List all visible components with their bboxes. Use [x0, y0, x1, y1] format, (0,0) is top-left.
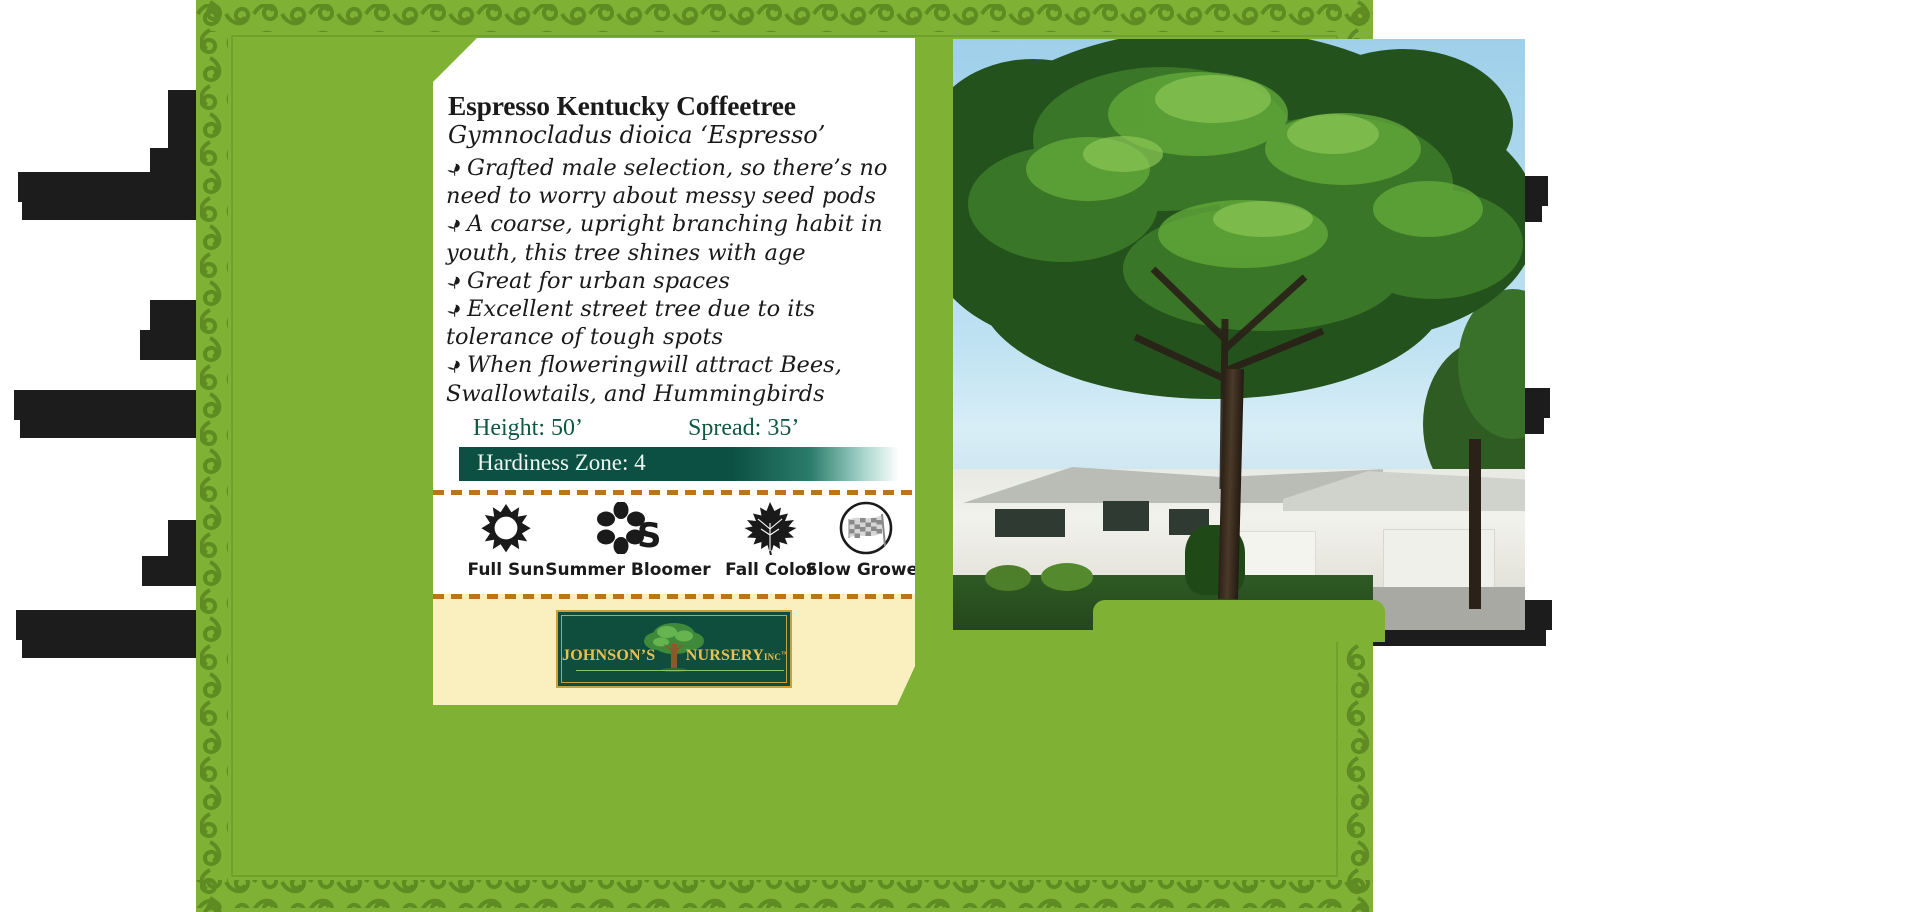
size-stats-row: Height: 50’ Spread: 35’ [473, 415, 873, 445]
list-item-text: Grafted male selection, so there’s no ne… [446, 155, 887, 209]
attribute-icon-row: Full Sun [433, 500, 915, 592]
leaf-sprout-icon [446, 302, 464, 318]
svg-text:S: S [637, 516, 659, 554]
logo-underline [576, 670, 784, 671]
logo-wordmark: JOHNSON’S NURSERYINC™ [562, 647, 786, 665]
sun-icon [480, 502, 532, 554]
checkered-flag-icon [838, 500, 894, 556]
background-artifact [18, 172, 198, 202]
logo-brand-second: NURSERY [686, 647, 764, 664]
list-item-text: Great for urban spaces [467, 268, 730, 294]
leaf-sprout-icon [446, 358, 464, 374]
list-item-text: A coarse, upright branching habit in you… [446, 211, 883, 265]
background-artifact [1372, 630, 1546, 646]
maple-leaf-icon [744, 501, 796, 555]
feature-list: Grafted male selection, so there’s no ne… [446, 154, 906, 408]
divider-bottom [433, 594, 915, 599]
logo-brand-first: JOHNSON’S [562, 647, 655, 664]
spread-stat: Spread: 35’ [688, 415, 799, 442]
list-item: Grafted male selection, so there’s no ne… [446, 154, 906, 210]
plant-info-card: Espresso Kentucky Coffeetree Gymnocladus… [433, 38, 915, 705]
poster-panel: Espresso Kentucky Coffeetree Gymnocladus… [196, 0, 1373, 912]
height-stat: Height: 50’ [473, 415, 583, 442]
photo-shrub [985, 565, 1031, 591]
background-artifact [14, 390, 198, 420]
hardiness-zone-label: Hardiness Zone: 4 [477, 450, 646, 476]
background-artifact [22, 202, 198, 220]
logo-trademark: ™ [781, 650, 787, 658]
attribute-label: Slow Grower [801, 560, 931, 580]
leaf-sprout-icon [446, 161, 464, 177]
attribute-summer-bloomer: S Summer Bloomer [533, 500, 723, 580]
list-item: When floweringwill attract Bees, Swallow… [446, 351, 906, 407]
photo-window [1103, 501, 1149, 531]
photo-shrub [1041, 563, 1093, 591]
page-title: Espresso Kentucky Coffeetree [448, 90, 898, 122]
divider-top [433, 490, 915, 495]
background-artifact [16, 610, 198, 640]
attribute-label: Summer Bloomer [533, 560, 723, 580]
photo-window [995, 509, 1065, 537]
list-item: Excellent street tree due to its toleran… [446, 295, 906, 351]
list-item-text: Excellent street tree due to its toleran… [446, 296, 815, 350]
list-item-text: When floweringwill attract Bees, Swallow… [446, 352, 842, 406]
leaf-sprout-icon [446, 217, 464, 233]
screenshot-root: Espresso Kentucky Coffeetree Gymnocladus… [0, 0, 1920, 912]
background-artifact [142, 556, 198, 586]
photo-bottom-notch [1093, 600, 1385, 642]
hardiness-zone-bar: Hardiness Zone: 4 [459, 447, 899, 481]
nursery-logo[interactable]: JOHNSON’S NURSERYINC™ [556, 610, 792, 688]
background-artifact [22, 640, 198, 658]
botanical-name: Gymnocladus dioica ‘Espresso’ [448, 121, 898, 149]
logo-brand-suffix: INC [764, 652, 781, 662]
background-artifact [168, 90, 198, 156]
photo-tree-trunk-secondary [1469, 439, 1481, 609]
attribute-slow-grower: Slow Grower [801, 500, 931, 580]
background-artifact [20, 420, 198, 438]
list-item: Great for urban spaces [446, 267, 906, 295]
background-artifact [140, 330, 198, 360]
leaf-sprout-icon [446, 274, 464, 290]
flower-s-icon: S [597, 502, 659, 554]
plant-photo [953, 39, 1525, 630]
list-item: A coarse, upright branching habit in you… [446, 210, 906, 266]
